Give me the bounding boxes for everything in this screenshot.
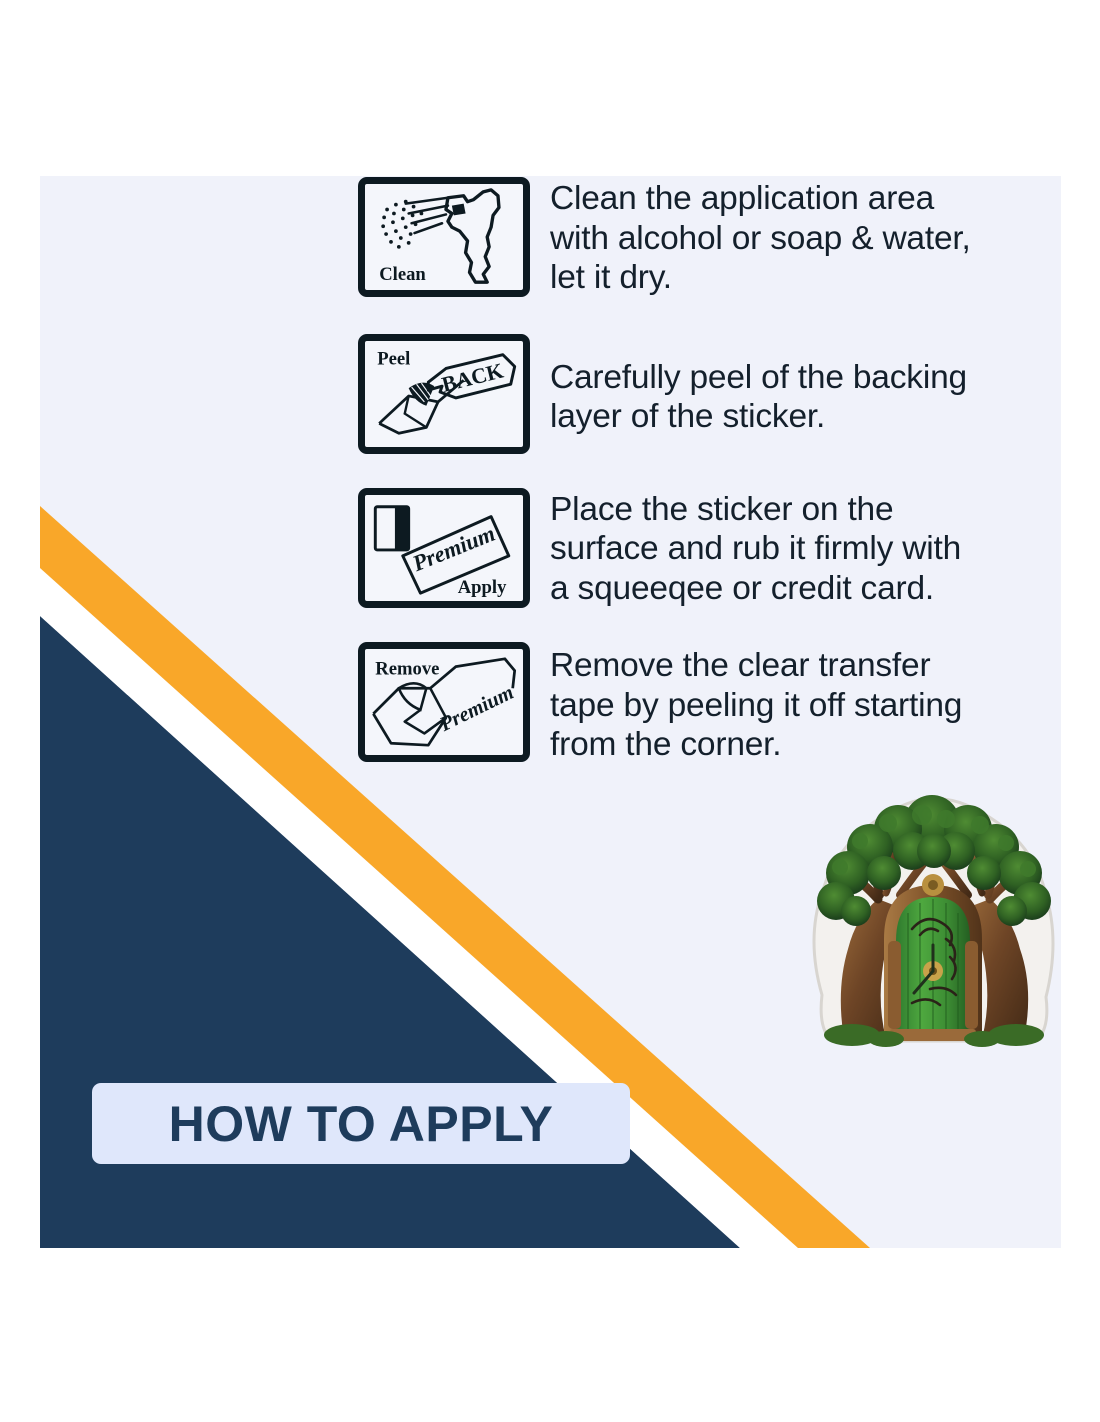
step-3-text: Place the sticker on the surface and rub… [530,488,1061,609]
squeegee-apply-icon: Premium Apply [358,488,530,608]
step-4-text: Remove the clear transfer tape by peelin… [530,642,1061,765]
remove-transfer-tape-icon: Remove Premium [358,642,530,762]
step-4: Remove Premium Remove the clear transfer… [358,642,1061,765]
steps-list: Clean Clean the application area with al… [358,177,1061,799]
step-1: Clean Clean the application area with al… [358,177,1061,298]
step-1-text: Clean the application area with alcohol … [530,177,1061,298]
right-column [965,941,978,1029]
peel-back-icon: BACK Peel [358,334,530,454]
banner-title: HOW TO APPLY [169,1099,554,1149]
icon-caption-back: BACK [439,358,506,396]
left-column [888,941,901,1029]
step-3: Premium Apply Place the sticker on the s… [358,488,1061,609]
icon-caption: Remove [375,659,439,680]
spray-bottle-clean-icon: Clean [358,177,530,297]
icon-caption: Peel [377,348,410,369]
step-2-text: Carefully peel of the backing layer of t… [530,334,1061,437]
content-panel: Clean Clean the application area with al… [40,176,1061,1248]
icon-caption: Apply [458,577,507,598]
how-to-apply-banner: HOW TO APPLY [92,1083,630,1164]
icon-caption-premium: Premium [408,520,498,576]
fairy-tree-door-sticker [800,789,1061,1065]
screenshot-root: Clean Clean the application area with al… [0,0,1100,1422]
icon-caption: Clean [379,264,426,285]
step-2: BACK Peel Carefully peel of the backing … [358,334,1061,454]
icon-caption-premium: Premium [436,682,518,737]
